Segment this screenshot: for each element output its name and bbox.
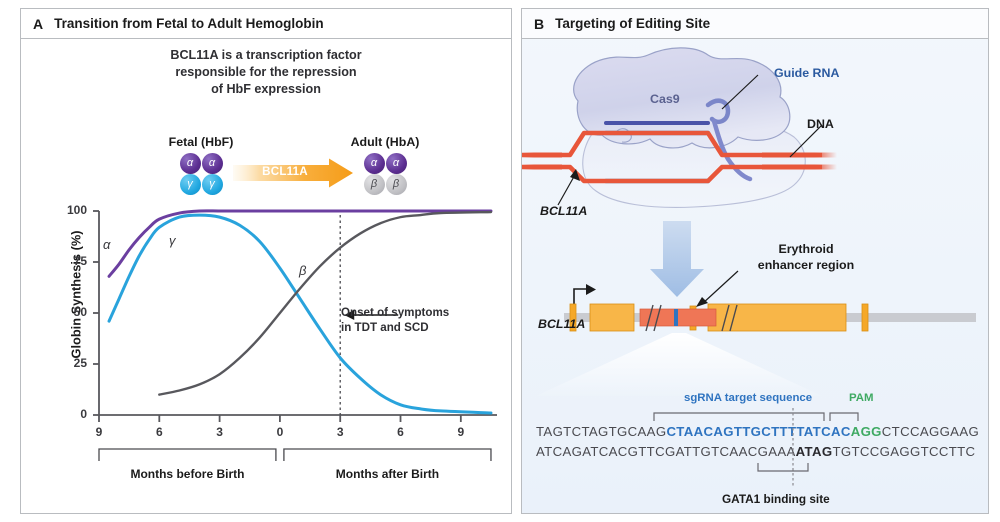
cas9-complex-illustration <box>522 39 988 239</box>
caption-line-2: responsible for the repression <box>21 64 511 81</box>
panel-b: B Targeting of Editing Site <box>521 8 989 514</box>
panel-b-letter: B <box>534 16 544 32</box>
enhancer-label-line-1: Erythroid <box>741 241 871 257</box>
dna-fade-left-lower <box>522 165 562 170</box>
alpha-chain-circle: α <box>180 153 201 174</box>
panel-b-title: Targeting of Editing Site <box>555 16 710 31</box>
panel-a-header: A Transition from Fetal to Adult Hemoglo… <box>21 9 511 39</box>
alpha-chain-circle: α <box>202 153 223 174</box>
panel-a: A Transition from Fetal to Adult Hemoglo… <box>20 8 512 514</box>
y-tick-label: 100 <box>53 203 87 217</box>
onset-annotation: Onset of symptoms in TDT and SCD <box>341 305 481 336</box>
gata-binding-site-label: GATA1 binding site <box>722 492 830 506</box>
x-axis-group-label: Months after Birth <box>284 467 491 481</box>
dna-label: DNA <box>807 116 834 132</box>
zoom-down-arrow <box>650 221 704 297</box>
y-axis-title: Globin Synthesis (%) <box>69 210 84 380</box>
enhancer-leader-line <box>702 271 738 304</box>
y-tick-label: 50 <box>53 305 87 319</box>
panel-a-title: Transition from Fetal to Adult Hemoglobi… <box>54 16 324 31</box>
y-tick-label: 25 <box>53 356 87 370</box>
panel-b-header: B Targeting of Editing Site <box>522 9 988 39</box>
caption-line-3: of HbF expression <box>21 81 511 98</box>
x-tick-label: 6 <box>148 425 170 439</box>
chart-series-β <box>159 212 491 395</box>
fetal-label: Fetal (HbF) <box>149 135 253 149</box>
adult-beta-row: β β <box>333 174 437 195</box>
bcl11a-gene-label: BCL11A <box>538 316 585 332</box>
x-tick-label: 6 <box>390 425 412 439</box>
x-tick-label: 3 <box>329 425 351 439</box>
bcl11a-top-label: BCL11A <box>540 203 587 219</box>
beta-chain-circle: β <box>364 174 385 195</box>
erythroid-enhancer-label: Erythroid enhancer region <box>741 241 871 273</box>
zoom-funnel <box>536 333 822 396</box>
onset-line-1: Onset of symptoms <box>341 305 481 320</box>
enhancer-label-line-2: enhancer region <box>741 257 871 273</box>
beta-chain-circle: β <box>386 174 407 195</box>
exon-block <box>862 304 868 331</box>
chart-canvas <box>51 205 503 505</box>
gamma-chain-circle: γ <box>180 174 201 195</box>
panel-a-letter: A <box>33 16 43 32</box>
figure-root: A Transition from Fetal to Adult Hemoglo… <box>0 0 1000 522</box>
adult-alpha-row: α α <box>333 153 437 174</box>
alpha-chain-circle: α <box>364 153 385 174</box>
dna-fade-right-lower <box>762 165 837 170</box>
x-tick-label: 3 <box>209 425 231 439</box>
cas9-label: Cas9 <box>650 91 680 107</box>
curve-label-α: α <box>103 237 110 252</box>
adult-label: Adult (HbA) <box>333 135 437 149</box>
curve-label-γ: γ <box>169 233 176 248</box>
x-tick-label: 0 <box>269 425 291 439</box>
sequence-annotation-row: sgRNA target sequence PAM <box>536 392 976 408</box>
enhancer-leader-arrowhead <box>696 297 708 307</box>
dna-fade-left-upper <box>522 153 562 158</box>
curve-label-β: β <box>299 263 306 278</box>
x-tick-label: 9 <box>450 425 472 439</box>
exon-block <box>590 304 634 331</box>
alpha-chain-circle: α <box>386 153 407 174</box>
globin-synthesis-chart: Globin Synthesis (%) 02550751009630369 O… <box>51 205 503 505</box>
x-axis-group-label: Months before Birth <box>99 467 276 481</box>
pam-annotation-label: PAM <box>849 392 873 404</box>
hemoglobin-schematic: Fetal (HbF) α α γ γ <box>21 135 511 205</box>
cut-site-dotted-line <box>536 408 976 494</box>
sgrna-annotation-label: sgRNA target sequence <box>684 392 812 404</box>
onset-line-2: in TDT and SCD <box>341 320 481 335</box>
caption-line-1: BCL11A is a transcription factor <box>21 47 511 64</box>
x-axis-group-brackets <box>99 449 491 461</box>
x-tick-label: 9 <box>88 425 110 439</box>
dna-fade-right-upper <box>762 153 837 158</box>
bcl11a-arrow-label: BCL11A <box>233 165 337 178</box>
panel-a-caption: BCL11A is a transcription factor respons… <box>21 47 511 98</box>
tss-arrowhead <box>586 284 596 295</box>
y-tick-label: 75 <box>53 254 87 268</box>
adult-hemoglobin-group: Adult (HbA) α α β β <box>333 135 437 195</box>
y-tick-label: 0 <box>53 407 87 421</box>
gamma-chain-circle: γ <box>202 174 223 195</box>
sgrna-target-mark <box>674 309 678 326</box>
dna-sequence-block: sgRNA target sequence PAM TAGTCTAGTGCAAG… <box>536 392 976 476</box>
guide-rna-label: Guide RNA <box>774 65 839 81</box>
